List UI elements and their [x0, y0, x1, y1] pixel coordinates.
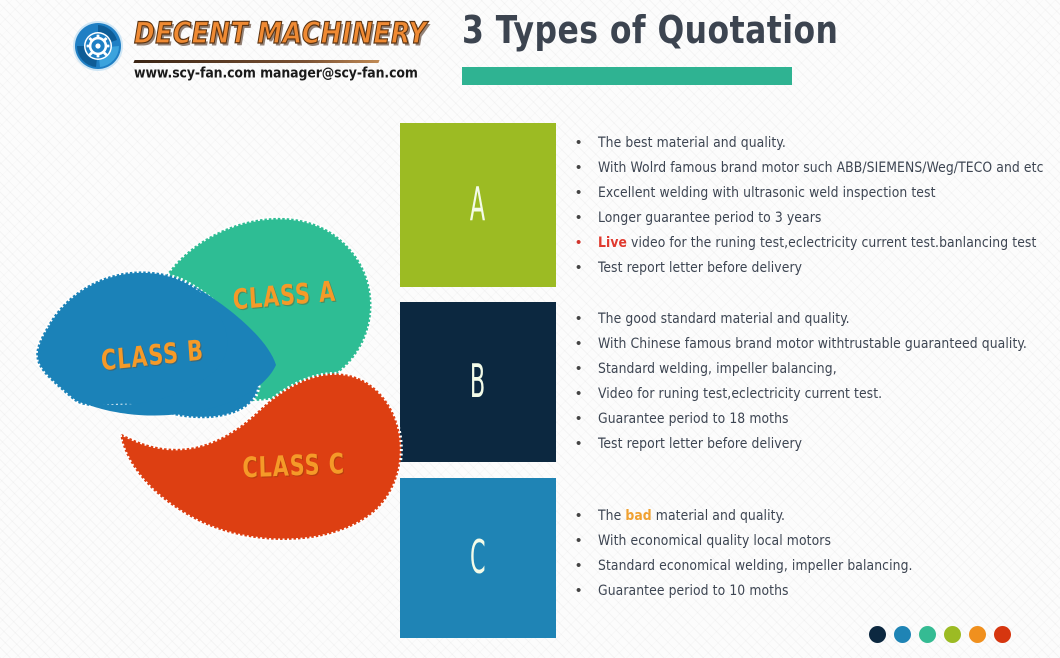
class-blob-diagram: CLASS A CLASS B CLASS C — [20, 215, 420, 545]
bullet-text: With Wolrd famous brand motor such ABB/S… — [598, 157, 1044, 179]
blob-label-class-c: CLASS C — [242, 449, 345, 485]
tier-bullet-list-c: •The bad material and quality.•With econ… — [576, 505, 929, 605]
bullet-text: Video for runing test,eclectricity curre… — [598, 383, 882, 405]
bullet-row: •The good standard material and quality. — [576, 308, 1049, 333]
bullet-text: With Chinese famous brand motor withtrus… — [598, 333, 1027, 355]
page-title: 3 Types of Quotation — [462, 8, 838, 52]
bullet-text: Test report letter before delivery — [598, 433, 802, 455]
brand-contact-text: www.scy-fan.com manager@scy-fan.com — [134, 64, 418, 81]
bullet-row: •Excellent welding with ultrasonic weld … — [576, 182, 1060, 207]
bullet-text-pre: Longer guarantee period to 3 years — [598, 210, 821, 226]
bullet-text-pre: Test report letter before delivery — [598, 260, 802, 276]
title-underline-bar — [462, 67, 792, 85]
bullet-text-pre: The good standard material and quality. — [598, 311, 850, 327]
bullet-text-pre: The best material and quality. — [598, 135, 786, 151]
bullet-row: •Guarantee period to 10 moths — [576, 580, 929, 605]
bullet-marker-icon: • — [576, 182, 598, 204]
bullet-marker-icon: • — [576, 358, 598, 380]
bullet-text-emphasis: Live — [598, 235, 627, 251]
bullet-text: Test report letter before delivery — [598, 257, 802, 279]
bullet-row: •Longer guarantee period to 3 years — [576, 207, 1060, 232]
bullet-text: The good standard material and quality. — [598, 308, 850, 330]
bullet-marker-icon: • — [576, 383, 598, 405]
bullet-marker-icon: • — [576, 207, 598, 229]
bullet-text: Standard economical welding, impeller ba… — [598, 555, 913, 577]
color-dot-4 — [944, 626, 961, 643]
bullet-row: •Video for runing test,eclectricity curr… — [576, 383, 1049, 408]
bullet-text-pre: Guarantee period to 10 moths — [598, 583, 789, 599]
bullet-text-pre: Standard economical welding, impeller ba… — [598, 558, 913, 574]
bullet-row: •With Chinese famous brand motor withtru… — [576, 333, 1049, 358]
bullet-text-pre: Excellent welding with ultrasonic weld i… — [598, 185, 936, 201]
bullet-text-pre: Test report letter before delivery — [598, 436, 802, 452]
bullet-text-emphasis: bad — [625, 508, 651, 524]
bullet-text-pre: With economical quality local motors — [598, 533, 831, 549]
bullet-marker-icon: • — [576, 555, 598, 577]
bullet-row: •With economical quality local motors — [576, 530, 929, 555]
bullet-row: •Live video for the runing test,eclectri… — [576, 232, 1060, 257]
color-dot-3 — [919, 626, 936, 643]
bullet-marker-icon: • — [576, 157, 598, 179]
bullet-text-post: material and quality. — [652, 508, 785, 524]
bullet-marker-icon: • — [576, 580, 598, 602]
brand-underline — [133, 60, 379, 63]
bullet-text: Excellent welding with ultrasonic weld i… — [598, 182, 936, 204]
bullet-marker-icon: • — [576, 505, 598, 527]
bullet-row: •Standard economical welding, impeller b… — [576, 555, 929, 580]
bullet-marker-icon: • — [576, 257, 598, 279]
bullet-text: Guarantee period to 18 moths — [598, 408, 789, 430]
color-dot-1 — [869, 626, 886, 643]
tier-bullet-list-a: •The best material and quality.•With Wol… — [576, 132, 1060, 282]
bullet-marker-icon: • — [576, 333, 598, 355]
bullet-text-pre: With Chinese famous brand motor withtrus… — [598, 336, 1027, 352]
bullet-text: With economical quality local motors — [598, 530, 831, 552]
color-dot-6 — [994, 626, 1011, 643]
bullet-marker-icon: • — [576, 408, 598, 430]
bullet-text: Guarantee period to 10 moths — [598, 580, 789, 602]
bullet-text-post: video for the runing test,eclectricity c… — [627, 235, 1036, 251]
bullet-marker-icon: • — [576, 530, 598, 552]
tier-letter-a: A — [470, 179, 486, 232]
bullet-marker-icon: • — [576, 232, 598, 254]
tier-letter-box-b: B — [400, 302, 556, 462]
tier-letter-box-c: C — [400, 478, 556, 638]
brand-wordmark: DECENT MACHINERY — [134, 16, 427, 50]
bullet-text: The best material and quality. — [598, 132, 786, 154]
bullet-text: The bad material and quality. — [598, 505, 785, 527]
bullet-text: Longer guarantee period to 3 years — [598, 207, 821, 229]
bullet-row: •The best material and quality. — [576, 132, 1060, 157]
gear-circular-arrows-icon — [72, 20, 124, 72]
bullet-row: •Standard welding, impeller balancing, — [576, 358, 1049, 383]
brand-logo-block: DECENT MACHINERY www.scy-fan.com manager… — [72, 16, 402, 88]
bullet-marker-icon: • — [576, 308, 598, 330]
tier-letter-b: B — [470, 356, 486, 409]
bullet-text-pre: Standard welding, impeller balancing, — [598, 361, 837, 377]
tier-letter-c: C — [470, 532, 486, 585]
color-dot-row — [869, 626, 1011, 643]
bullet-text-pre: The — [598, 508, 625, 524]
color-dot-5 — [969, 626, 986, 643]
color-dot-2 — [894, 626, 911, 643]
tier-letter-box-a: A — [400, 123, 556, 287]
bullet-text: Standard welding, impeller balancing, — [598, 358, 837, 380]
bullet-marker-icon: • — [576, 433, 598, 455]
bullet-row: •Test report letter before delivery — [576, 433, 1049, 458]
bullet-row: •With Wolrd famous brand motor such ABB/… — [576, 157, 1060, 182]
bullet-row: •The bad material and quality. — [576, 505, 929, 530]
bullet-marker-icon: • — [576, 132, 598, 154]
bullet-row: •Guarantee period to 18 moths — [576, 408, 1049, 433]
bullet-text-pre: Guarantee period to 18 moths — [598, 411, 789, 427]
bullet-text-pre: Video for runing test,eclectricity curre… — [598, 386, 882, 402]
bullet-text-pre: With Wolrd famous brand motor such ABB/S… — [598, 160, 1044, 176]
bullet-text: Live video for the runing test,eclectric… — [598, 232, 1036, 254]
bullet-row: •Test report letter before delivery — [576, 257, 1060, 282]
tier-bullet-list-b: •The good standard material and quality.… — [576, 308, 1049, 458]
